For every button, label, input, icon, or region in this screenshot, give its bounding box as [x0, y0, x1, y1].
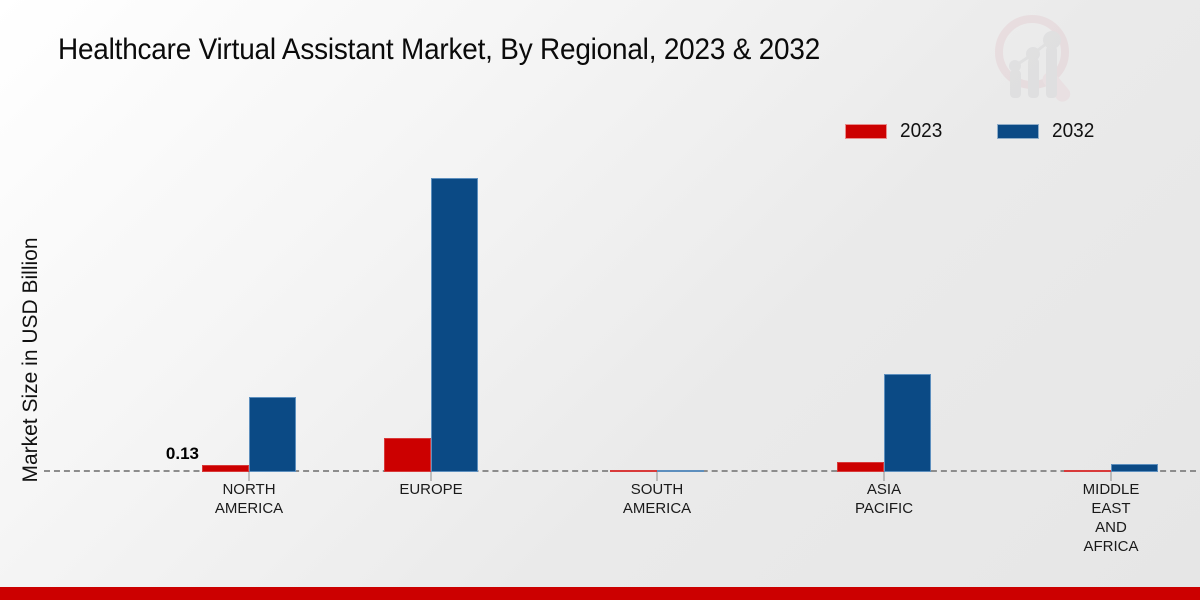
chart-container: Healthcare Virtual Assistant Market, By …	[0, 0, 1200, 600]
category-label: NORTH AMERICA	[174, 480, 324, 518]
footer-band	[0, 587, 1200, 600]
bar-value-label: 0.13	[166, 444, 199, 464]
bar-2023[interactable]	[384, 438, 431, 472]
category-label: SOUTH AMERICA	[582, 480, 732, 518]
legend-swatch-2023	[845, 124, 887, 139]
bar-2023[interactable]	[1064, 470, 1111, 472]
bar-2032[interactable]	[249, 397, 296, 472]
category-label: MIDDLE EAST AND AFRICA	[1036, 480, 1186, 556]
legend-label-2032: 2032	[1052, 120, 1094, 143]
bar-group: EUROPE	[356, 152, 506, 472]
bar-2032[interactable]	[884, 374, 931, 472]
bar-2023[interactable]	[610, 470, 657, 472]
bar-group: 0.13 NORTH AMERICA	[174, 152, 324, 472]
legend-item-2032[interactable]: 2032	[997, 120, 1097, 143]
legend-item-2023[interactable]: 2023	[845, 120, 945, 143]
bar-group: MIDDLE EAST AND AFRICA	[1036, 152, 1186, 472]
bar-chart-icon	[1009, 31, 1061, 98]
page-title: Healthcare Virtual Assistant Market, By …	[58, 33, 988, 67]
bar-2032[interactable]	[657, 470, 704, 472]
watermark-logo	[992, 8, 1078, 106]
bar-2023[interactable]	[202, 465, 249, 472]
y-axis-label: Market Size in USD Billion	[19, 195, 43, 525]
legend-label-2023: 2023	[900, 120, 942, 143]
bar-2032[interactable]	[431, 178, 478, 472]
bar-group: SOUTH AMERICA	[582, 152, 732, 472]
legend-swatch-2032	[997, 124, 1039, 139]
category-label: EUROPE	[356, 480, 506, 499]
category-label: ASIA PACIFIC	[809, 480, 959, 518]
plot-area: 0.13 NORTH AMERICA EUROPE SOUTH AMERICA	[44, 150, 1196, 472]
bar-group: ASIA PACIFIC	[809, 152, 959, 472]
bar-2023[interactable]	[837, 462, 884, 472]
chart-legend: 2023 2032	[845, 120, 1096, 143]
bar-2032[interactable]	[1111, 464, 1158, 472]
